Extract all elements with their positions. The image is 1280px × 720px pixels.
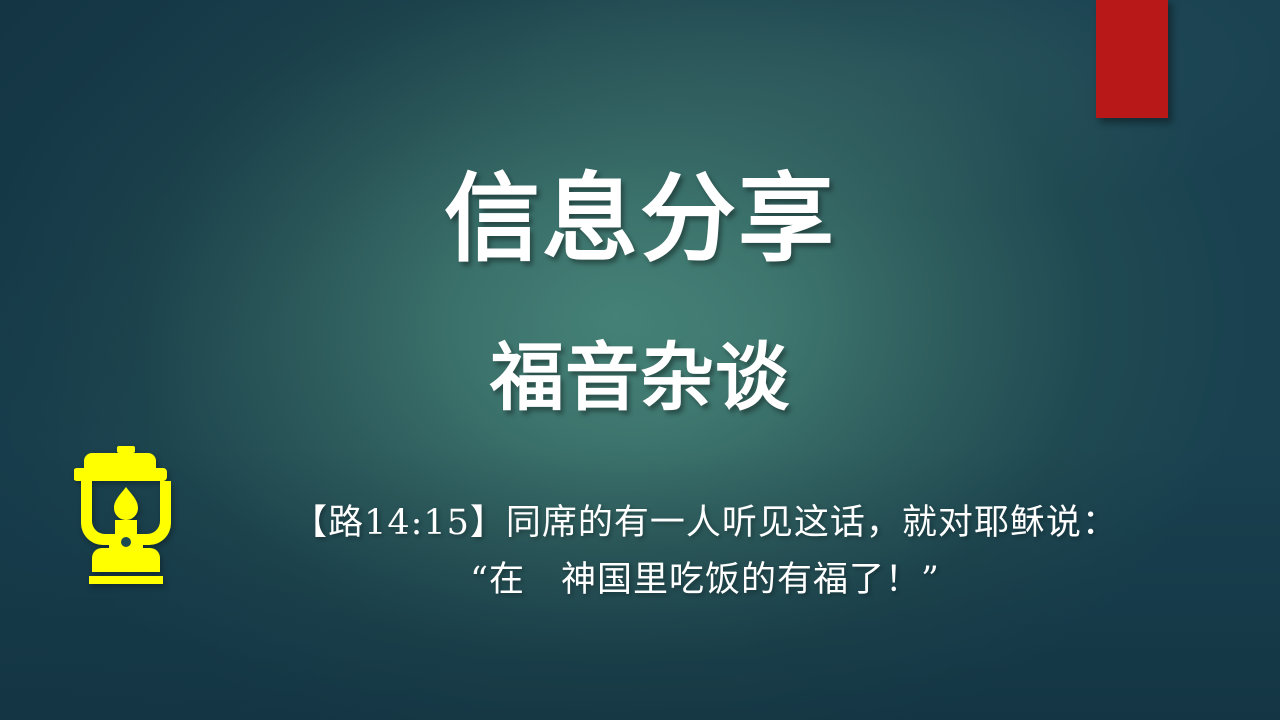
scripture-text-block: 【路14:15】同席的有一人听见这话，就对耶稣说： “在 神国里吃饭的有福了！” [200, 495, 1210, 608]
slide-title: 信息分享 [0, 168, 1280, 272]
scripture-line-2: “在 神国里吃饭的有福了！” [200, 552, 1210, 609]
scripture-line-1: 【路14:15】同席的有一人听见这话，就对耶稣说： [200, 495, 1210, 552]
presentation-slide: 信息分享 福音杂谈 [0, 0, 1280, 720]
red-accent-rectangle [1096, 0, 1168, 118]
oil-lamp-icon [74, 446, 178, 584]
slide-subtitle: 福音杂谈 [0, 337, 1280, 418]
